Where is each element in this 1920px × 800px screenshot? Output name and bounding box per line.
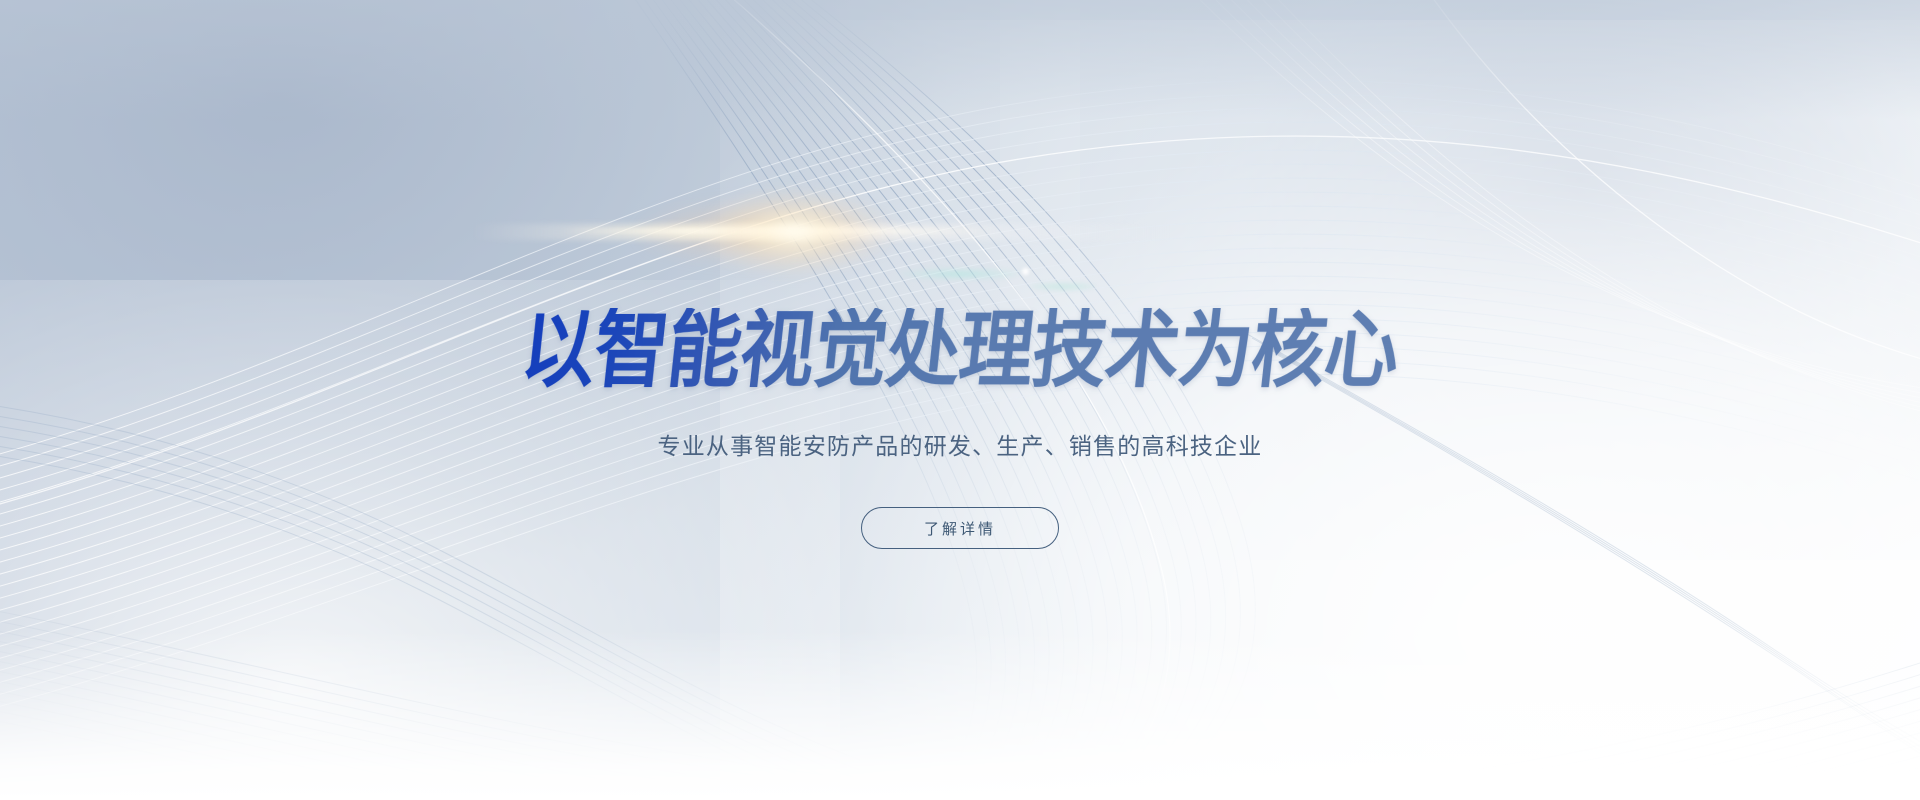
cta-container: 了解详情 — [0, 507, 1920, 549]
hero-content: 以智能视觉处理技术为核心 专业从事智能安防产品的研发、生产、销售的高科技企业 了… — [0, 0, 1920, 800]
hero-subtitle: 专业从事智能安防产品的研发、生产、销售的高科技企业 — [0, 427, 1920, 461]
hero-title: 以智能视觉处理技术为核心 — [111, 308, 1810, 392]
hero-banner: 以智能视觉处理技术为核心 专业从事智能安防产品的研发、生产、销售的高科技企业 了… — [0, 0, 1920, 800]
learn-more-button[interactable]: 了解详情 — [861, 507, 1059, 549]
